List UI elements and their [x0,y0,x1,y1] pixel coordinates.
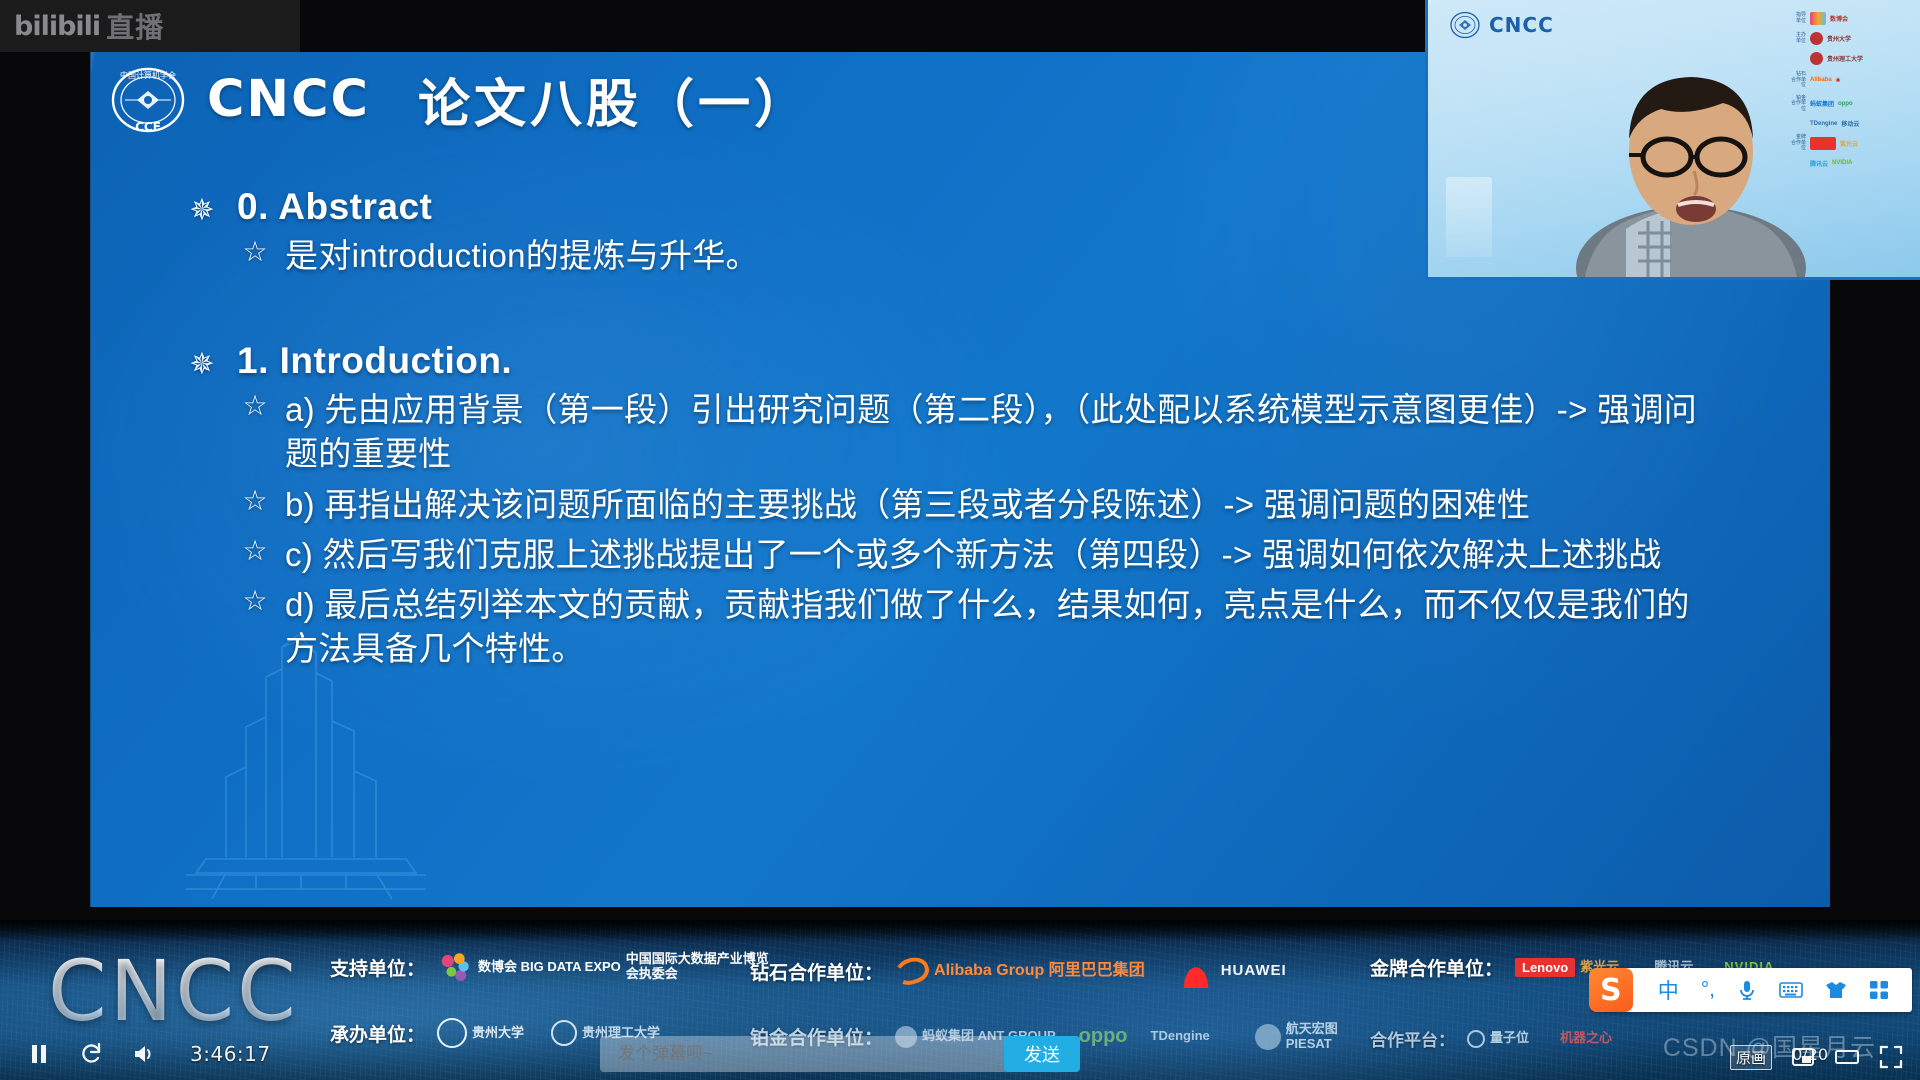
sponsor-row: 钻石合作单位： Alibaba Group 阿里巴巴集团 HUAWEI [750,954,1287,988]
player-left-controls: 3:46:17 [12,1041,271,1067]
star-bullet-icon: ☆ [241,583,269,618]
svg-text:CCF: CCF [135,120,161,134]
star-bullet-icon: ☆ [241,388,269,423]
sponsor-label: 金牌合作单位 [1789,135,1806,152]
webcam-cncc-logo: CNCC [1450,10,1554,40]
sponsor-name: Alibaba [1810,77,1832,83]
sponsor-label: 钻石合作单位 [1789,72,1806,89]
picture-in-picture-icon[interactable] [1790,1044,1816,1070]
volume-icon[interactable] [130,1041,156,1067]
asterisk-bullet-icon: ✵ [187,350,217,380]
playback-timestamp: 3:46:17 [190,1042,271,1066]
sponsor-name: TDengine [1810,121,1837,127]
sponsor-name: Alibaba Group 阿里巴巴集团 [934,962,1145,980]
section-spacer [187,278,1790,334]
sub-item-text: a) 先由应用背景（第一段）引出研究问题（第二段），（此处配以系统模型示意图更佳… [285,388,1705,476]
sponsor-row: 铂金合作单位 蚂蚁集团 oppo [1789,96,1914,113]
player-right-controls: 原画 [1730,1044,1904,1070]
ime-punctuation-icon[interactable]: °, [1701,978,1715,1002]
sub-item-text: 是对introduction的提炼与升华。 [285,234,759,278]
slide-title: 论文八股（一） [418,62,810,137]
background-pillar-decor [1446,177,1492,257]
sponsor-name: HUAWEI [1221,962,1287,979]
svg-text:中国计算机学会: 中国计算机学会 [120,70,176,80]
huawei-logo-icon [1176,954,1216,988]
sponsor-logo-group: Alibaba Group 阿里巴巴集团 HUAWEI [895,954,1287,988]
sponsor-row: 贵州理工大学 [1789,52,1914,65]
sponsor-name: 贵州理工大学 [1827,54,1863,63]
sponsor-logo-icon [1810,12,1826,25]
slide-sub-item: ☆ b) 再指出解决该问题所面临的主要挑战（第三段或者分段陈述）-> 强调问题的… [241,483,1790,527]
star-bullet-icon: ☆ [241,234,269,269]
sponsor-logo-group: 数博会 BIG DATA EXPO 中国国际大数据产业博览会执委会 [437,952,776,982]
slide-sub-item: ☆ c) 然后写我们克服上述挑战提出了一个或多个新方法（第四段）-> 强调如何依… [241,533,1790,577]
sponsor-name: 紫光云 [1840,139,1858,148]
lenovo-logo-icon: Lenovo [1515,958,1575,977]
section-heading-text: 1. Introduction. [237,340,512,382]
slide-sub-item: ☆ d) 最后总结列举本文的贡献，贡献指我们做了什么，结果如何，亮点是什么，而不… [241,583,1790,671]
sub-item-text: d) 最后总结列举本文的贡献，贡献指我们做了什么，结果如何，亮点是什么，而不仅仅… [285,583,1705,671]
sponsor-name: 贵州大学 [1827,34,1851,43]
alibaba-logo-icon [892,953,932,988]
sponsor-label: 铂金合作单位 [1789,96,1806,113]
fullscreen-icon[interactable] [1878,1044,1904,1070]
sponsor-label: 支持单位： [330,954,425,981]
sponsor-name: 腾讯云 [1810,159,1828,168]
quality-selector[interactable]: 原画 [1730,1045,1772,1070]
slide-sub-item: ☆ a) 先由应用背景（第一段）引出研究问题（第二段），（此处配以系统模型示意图… [241,388,1790,476]
cncc-brand-label: CNCC [207,70,370,129]
sub-item-text: c) 然后写我们克服上述挑战提出了一个或多个新方法（第四段）-> 强调如何依次解… [285,533,1662,577]
bilibili-logo-icon: bilibili [14,11,100,42]
sogou-logo-icon[interactable]: S [1589,968,1633,1012]
sponsor-label: 指导单位 [1789,13,1806,24]
sponsor-label: 金牌合作单位： [1370,954,1503,981]
speaker-webcam-overlay[interactable]: CNCC 指导单位 数博会 主 [1425,0,1920,280]
star-bullet-icon: ☆ [241,483,269,518]
sponsor-logo-icon [1810,32,1823,45]
ime-language-mode[interactable]: 中 [1658,975,1679,1005]
refresh-icon[interactable] [78,1041,104,1067]
ime-microphone-icon[interactable] [1737,979,1757,1001]
sponsor-row: 钻石合作单位 Alibaba ❀ [1789,72,1914,89]
player-control-bar[interactable]: 3:46:17 原画 [0,1028,1920,1080]
sponsor-name: 数博会 [1830,14,1848,23]
sponsor-row: 金牌合作单位 紫光云 [1789,135,1914,152]
sponsor-name: 移动云 [1841,119,1859,128]
sponsor-name: 数博会 BIG DATA EXPO [478,960,621,975]
sponsor-row: 指导单位 数博会 [1789,12,1914,25]
sponsor-name: oppo [1838,101,1853,107]
sponsor-name: ❀ [1836,77,1841,84]
webcam-sponsor-list: 指导单位 数博会 主办单位 贵州大学 贵州理工大学 钻石合作单位 Alibaba… [1789,12,1914,168]
slide-header: 中国计算机学会 CCF CNCC 论文八股（一） [111,62,810,137]
bigdata-expo-logo-icon [437,952,473,982]
ccf-logo-icon [1450,10,1480,40]
bilibili-watermark: bilibili 直播 [0,0,300,52]
sponsor-row: 支持单位： 数博会 BIG DATA EXPO 中国国际大数据产业博览会执委会 [330,952,776,982]
webcam-brand-label: CNCC [1489,13,1554,37]
sponsor-logo-icon [1810,52,1823,65]
ccf-logo-icon: 中国计算机学会 CCF [111,63,185,137]
section-heading-text: 0. Abstract [237,186,432,228]
sponsor-name: NVIDIA [1832,160,1852,166]
live-stream-page: 中国计算机学会 CCF CNCC 论文八股（一） ✵ 0. Abstract ☆… [0,0,1920,1080]
sogou-ime-toolbar[interactable]: S 中 °, [1593,968,1912,1012]
slide-section-heading: ✵ 1. Introduction. [187,340,1790,382]
sponsor-row: 腾讯云 NVIDIA [1789,159,1914,168]
asterisk-bullet-icon: ✵ [187,196,217,226]
pause-icon[interactable] [26,1041,52,1067]
star-bullet-icon: ☆ [241,533,269,568]
banner-cncc-logo: CNCC [48,942,299,1040]
ime-apps-icon[interactable] [1869,980,1889,1000]
bilibili-live-label: 直播 [106,6,164,46]
sub-item-text: b) 再指出解决该问题所面临的主要挑战（第三段或者分段陈述）-> 强调问题的困难… [285,483,1530,527]
sponsor-row: TDengine 移动云 [1789,119,1914,128]
sponsor-row: 主办单位 贵州大学 [1789,32,1914,45]
lenovo-logo-icon [1810,137,1836,150]
ime-keyboard-icon[interactable] [1779,981,1803,999]
ime-skin-icon[interactable] [1825,980,1847,1000]
widescreen-icon[interactable] [1834,1044,1860,1070]
sponsor-label: 主办单位 [1789,33,1806,44]
speaker-avatar [1556,53,1826,280]
sponsor-label: 钻石合作单位： [750,958,883,985]
sponsor-name: 蚂蚁集团 [1810,99,1834,108]
